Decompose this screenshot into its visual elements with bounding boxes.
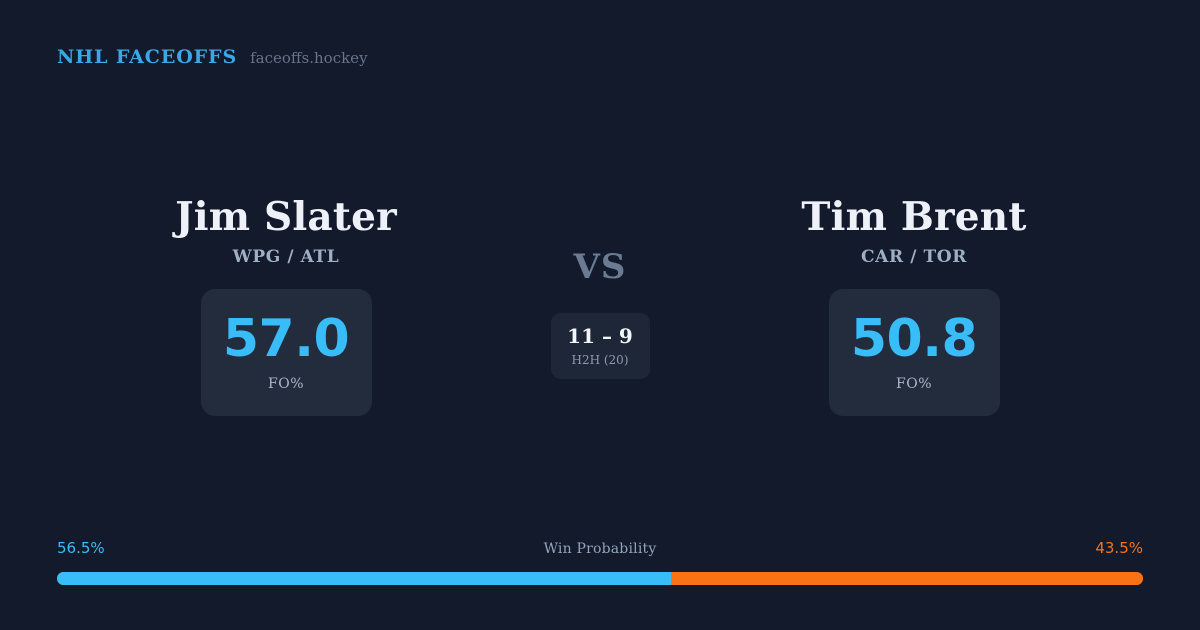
brand-title: NHL FACEOFFS: [57, 48, 237, 67]
player-right: Tim Brent CAR / TOR 50.8 FO%: [700, 196, 1128, 416]
player-right-name: Tim Brent: [801, 196, 1026, 238]
faceoff-matchup-card: NHL FACEOFFS faceoffs.hockey Jim Slater …: [0, 0, 1200, 630]
player-left: Jim Slater WPG / ATL 57.0 FO%: [72, 196, 500, 416]
head-to-head-score: 11 – 9: [567, 326, 633, 346]
player-right-faceoff-pct-value: 50.8: [851, 313, 977, 365]
win-probability-section: 56.5% Win Probability 43.5%: [57, 541, 1143, 585]
head-to-head-label: H2H (20): [571, 353, 628, 367]
brand-site-label: faceoffs.hockey: [250, 51, 367, 66]
player-left-teams: WPG / ATL: [233, 247, 340, 267]
player-left-faceoff-pct-value: 57.0: [223, 313, 349, 365]
vs-label: VS: [574, 250, 627, 284]
player-right-faceoff-pct-label: FO%: [896, 376, 932, 392]
head-to-head-box: 11 – 9 H2H (20): [551, 313, 650, 379]
player-left-stat-card: 57.0 FO%: [201, 289, 372, 416]
player-right-teams: CAR / TOR: [861, 247, 967, 267]
matchup-center: VS 11 – 9 H2H (20): [500, 196, 700, 379]
player-right-stat-card: 50.8 FO%: [829, 289, 1000, 416]
header: NHL FACEOFFS faceoffs.hockey: [57, 48, 368, 67]
win-probability-bar-right-segment: [671, 572, 1143, 585]
player-left-faceoff-pct-label: FO%: [268, 376, 304, 392]
win-probability-left-value: 56.5%: [57, 541, 105, 556]
win-probability-bar: [57, 572, 1143, 585]
win-probability-title: Win Probability: [544, 542, 657, 556]
matchup-section: Jim Slater WPG / ATL 57.0 FO% VS 11 – 9 …: [0, 196, 1200, 416]
win-probability-labels: 56.5% Win Probability 43.5%: [57, 541, 1143, 561]
win-probability-bar-left-segment: [57, 572, 671, 585]
win-probability-right-value: 43.5%: [1095, 541, 1143, 556]
player-left-name: Jim Slater: [175, 196, 397, 238]
